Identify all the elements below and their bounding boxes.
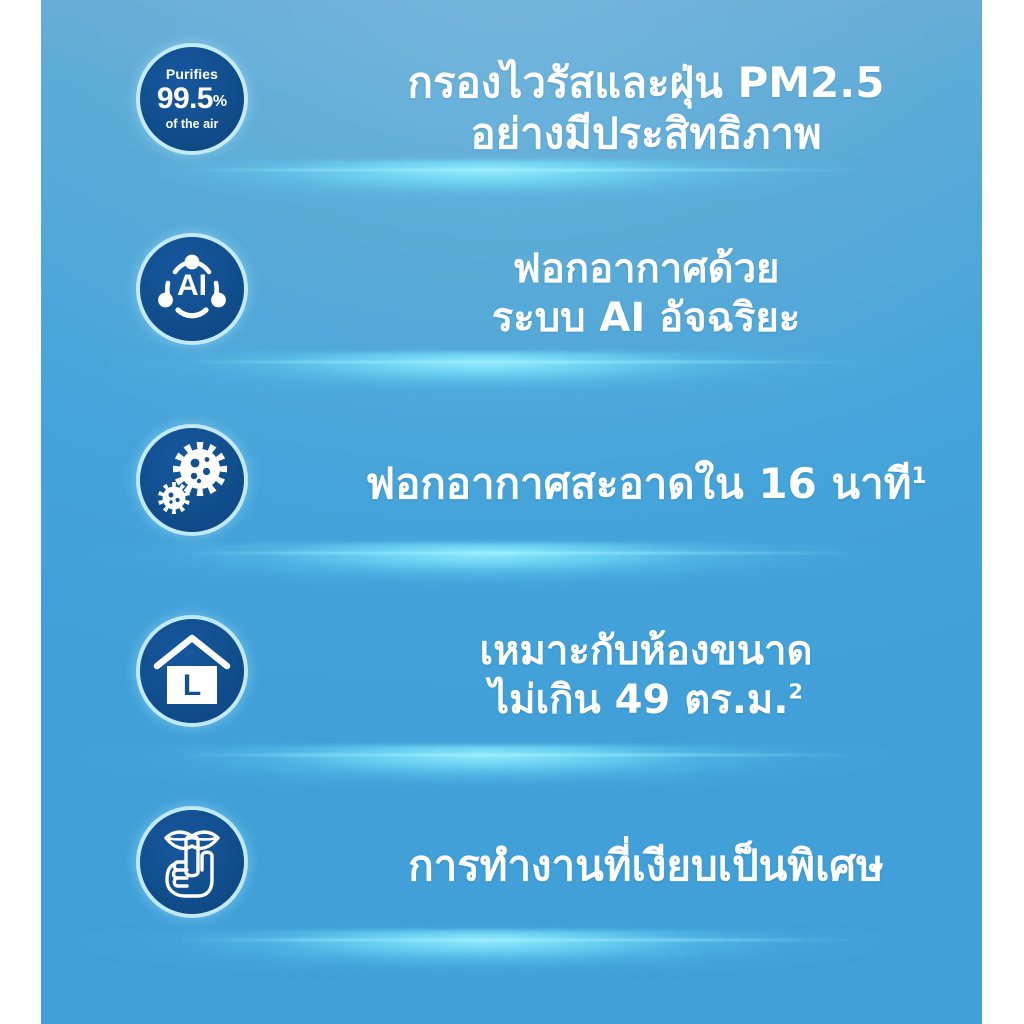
feature-line: ฟอกอากาศสะอาดใน 16 นาที1 bbox=[296, 458, 982, 509]
divider-3 bbox=[47, 543, 977, 605]
shush-quiet-icon bbox=[136, 806, 248, 918]
svg-text:AI: AI bbox=[177, 269, 207, 302]
feature-text-ai-system: ฟอกอากาศด้วย ระบบ AI อัจฉริยะ bbox=[296, 245, 982, 343]
feature-line: อย่างมีประสิทธิภาพ bbox=[296, 108, 982, 159]
icon-disc bbox=[140, 428, 244, 532]
virus-germs-glyph bbox=[150, 438, 234, 522]
badge-percent-sign: % bbox=[213, 93, 227, 110]
badge-number: 99.5 bbox=[157, 82, 213, 115]
feature-line: การทำงานที่เงียบเป็นพิเศษ bbox=[296, 840, 982, 891]
house-large-room-icon: L bbox=[136, 615, 248, 727]
feature-line: ฟอกอากาศด้วย bbox=[296, 245, 982, 294]
feature-row-filtration: Purifies 99.5% of the air กรองไวรัสและฝุ… bbox=[41, 43, 982, 157]
blue-panel: Purifies 99.5% of the air กรองไวรัสและฝุ… bbox=[41, 0, 982, 1024]
footnote-marker: 2 bbox=[788, 679, 802, 703]
divider-glow bbox=[47, 930, 977, 992]
ai-network-glyph: AI bbox=[153, 250, 231, 328]
divider-glow bbox=[47, 745, 977, 807]
feature-poster: Purifies 99.5% of the air กรองไวรัสและฝุ… bbox=[0, 0, 1024, 1024]
divider-edge bbox=[177, 552, 865, 554]
badge-bottom-label: of the air bbox=[157, 118, 227, 131]
divider-edge bbox=[177, 939, 865, 941]
icon-disc: L bbox=[140, 619, 244, 723]
shush-quiet-glyph bbox=[154, 822, 230, 902]
feature-row-quiet-operation: การทำงานที่เงียบเป็นพิเศษ bbox=[41, 806, 982, 920]
badge-top-label: Purifies bbox=[157, 67, 227, 81]
feature-text-room-size: เหมาะกับห้องขนาด ไม่เกิน 49 ตร.ม.2 bbox=[296, 627, 982, 725]
feature-line: ระบบ AI อัจฉริยะ bbox=[296, 294, 982, 343]
divider-edge bbox=[177, 361, 865, 363]
divider-glow bbox=[47, 160, 977, 222]
icon-disc: AI bbox=[140, 237, 244, 341]
feature-line-text: ไม่เกิน 49 ตร.ม. bbox=[489, 677, 788, 723]
divider-glow bbox=[47, 543, 977, 605]
footnote-marker: 1 bbox=[911, 464, 926, 489]
feature-row-clean-time: ฟอกอากาศสะอาดใน 16 นาที1 bbox=[41, 424, 982, 538]
divider-4 bbox=[47, 745, 977, 807]
badge-value: 99.5% bbox=[157, 84, 227, 114]
divider-edge bbox=[177, 169, 865, 171]
ai-network-icon: AI bbox=[136, 233, 248, 345]
feature-line: กรองไวรัสและฝุ่น PM2.5 bbox=[296, 57, 982, 108]
divider-glow bbox=[47, 352, 977, 414]
virus-germs-icon bbox=[136, 424, 248, 536]
feature-row-ai-system: AI ฟอกอากาศด้วย ระบบ AI อัจฉริยะ bbox=[41, 233, 982, 347]
divider-2 bbox=[47, 352, 977, 414]
badge-disc: Purifies 99.5% of the air bbox=[140, 47, 244, 151]
icon-disc bbox=[140, 810, 244, 914]
feature-text-quiet-operation: การทำงานที่เงียบเป็นพิเศษ bbox=[296, 840, 982, 891]
divider-1 bbox=[47, 160, 977, 222]
feature-row-room-size: L เหมาะกับห้องขนาด ไม่เกิน 49 ตร.ม.2 bbox=[41, 615, 982, 729]
feature-line: ไม่เกิน 49 ตร.ม.2 bbox=[296, 676, 982, 725]
feature-line: เหมาะกับห้องขนาด bbox=[296, 627, 982, 676]
svg-text:L: L bbox=[183, 669, 201, 702]
feature-line-text: ฟอกอากาศสะอาดใน 16 นาที bbox=[365, 459, 911, 508]
purifies-99-5-percent-badge: Purifies 99.5% of the air bbox=[136, 43, 248, 155]
divider-edge bbox=[177, 754, 865, 756]
divider-5 bbox=[47, 930, 977, 992]
feature-text-clean-time: ฟอกอากาศสะอาดใน 16 นาที1 bbox=[296, 458, 982, 509]
feature-text-filtration: กรองไวรัสและฝุ่น PM2.5 อย่างมีประสิทธิภา… bbox=[296, 57, 982, 159]
house-glyph: L bbox=[152, 632, 232, 710]
